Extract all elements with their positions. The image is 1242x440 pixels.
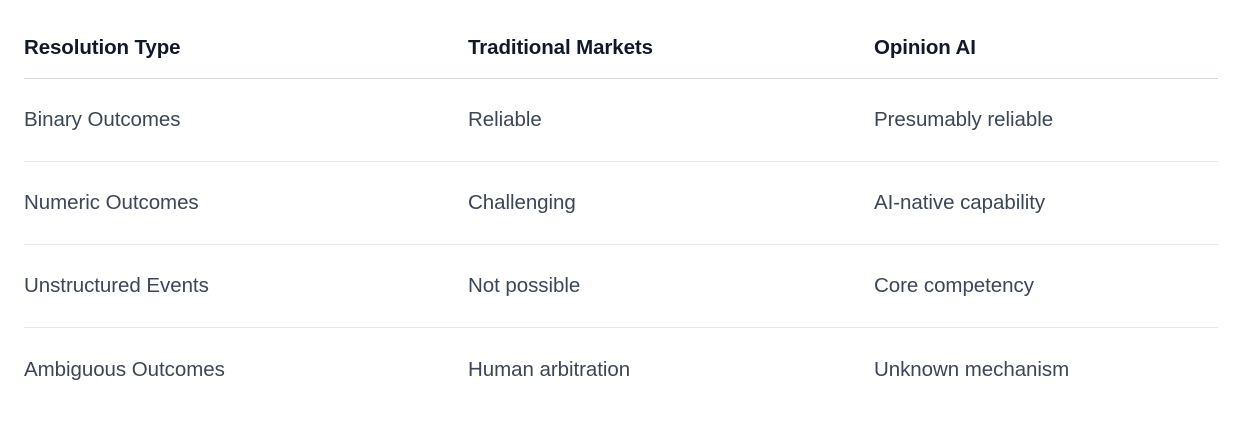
cell-resolution-type: Numeric Outcomes: [24, 162, 468, 245]
table-header: Resolution Type Traditional Markets Opin…: [24, 0, 1218, 79]
cell-traditional-markets: Human arbitration: [468, 328, 874, 413]
column-header-traditional-markets: Traditional Markets: [468, 0, 874, 79]
cell-opinion-ai: Core competency: [874, 245, 1218, 328]
cell-opinion-ai: AI-native capability: [874, 162, 1218, 245]
column-header-resolution-type: Resolution Type: [24, 0, 468, 79]
table-header-row: Resolution Type Traditional Markets Opin…: [24, 0, 1218, 79]
cell-traditional-markets: Challenging: [468, 162, 874, 245]
cell-resolution-type: Binary Outcomes: [24, 79, 468, 162]
cell-opinion-ai: Unknown mechanism: [874, 328, 1218, 413]
table-row: Ambiguous Outcomes Human arbitration Unk…: [24, 328, 1218, 413]
column-header-opinion-ai: Opinion AI: [874, 0, 1218, 79]
comparison-table-container: Resolution Type Traditional Markets Opin…: [0, 0, 1242, 412]
cell-resolution-type: Ambiguous Outcomes: [24, 328, 468, 413]
table-row: Unstructured Events Not possible Core co…: [24, 245, 1218, 328]
resolution-comparison-table: Resolution Type Traditional Markets Opin…: [24, 0, 1218, 412]
table-body: Binary Outcomes Reliable Presumably reli…: [24, 79, 1218, 413]
table-row: Binary Outcomes Reliable Presumably reli…: [24, 79, 1218, 162]
cell-traditional-markets: Not possible: [468, 245, 874, 328]
cell-resolution-type: Unstructured Events: [24, 245, 468, 328]
cell-opinion-ai: Presumably reliable: [874, 79, 1218, 162]
cell-traditional-markets: Reliable: [468, 79, 874, 162]
table-row: Numeric Outcomes Challenging AI-native c…: [24, 162, 1218, 245]
